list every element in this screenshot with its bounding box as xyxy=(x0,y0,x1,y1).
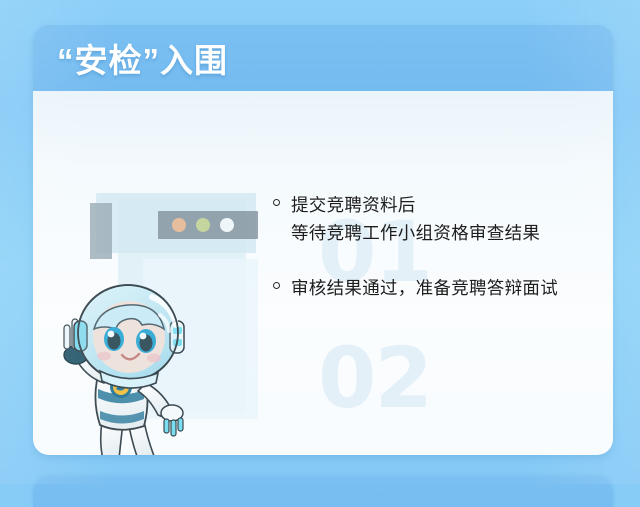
page-title: “安检”入围 xyxy=(57,34,228,82)
watermark-02: 02 xyxy=(318,329,431,427)
page-background: “安检”入围 01 02 xyxy=(0,0,640,484)
list-item: 提交竞聘资料后 等待竞聘工作小组资格审查结果 xyxy=(273,191,603,248)
bullet-circle-icon xyxy=(273,282,280,289)
bullet-text-line: 提交竞聘资料后 xyxy=(291,191,603,219)
bullet-text-line: 审核结果通过，准备竞聘答辩面试 xyxy=(291,274,603,302)
gate-left-pillar xyxy=(90,203,112,259)
gate-indicator-panel xyxy=(158,211,258,239)
bullet-circle-icon xyxy=(273,199,280,206)
content-card: “安检”入围 01 02 xyxy=(33,25,613,455)
astronaut-robot-mascot xyxy=(36,271,226,455)
list-item: 审核结果通过，准备竞聘答辩面试 xyxy=(273,274,603,302)
lamp-orange-icon xyxy=(172,218,186,232)
bullet-list: 提交竞聘资料后 等待竞聘工作小组资格审查结果 审核结果通过，准备竞聘答辩面试 xyxy=(273,191,603,302)
next-card-peek xyxy=(33,477,613,507)
card-header: “安检”入围 xyxy=(33,25,613,91)
lamp-white-icon xyxy=(220,218,234,232)
lamp-green-icon xyxy=(196,218,210,232)
card-body: 01 02 xyxy=(33,91,613,455)
bullet-text-line: 等待竞聘工作小组资格审查结果 xyxy=(291,219,603,247)
